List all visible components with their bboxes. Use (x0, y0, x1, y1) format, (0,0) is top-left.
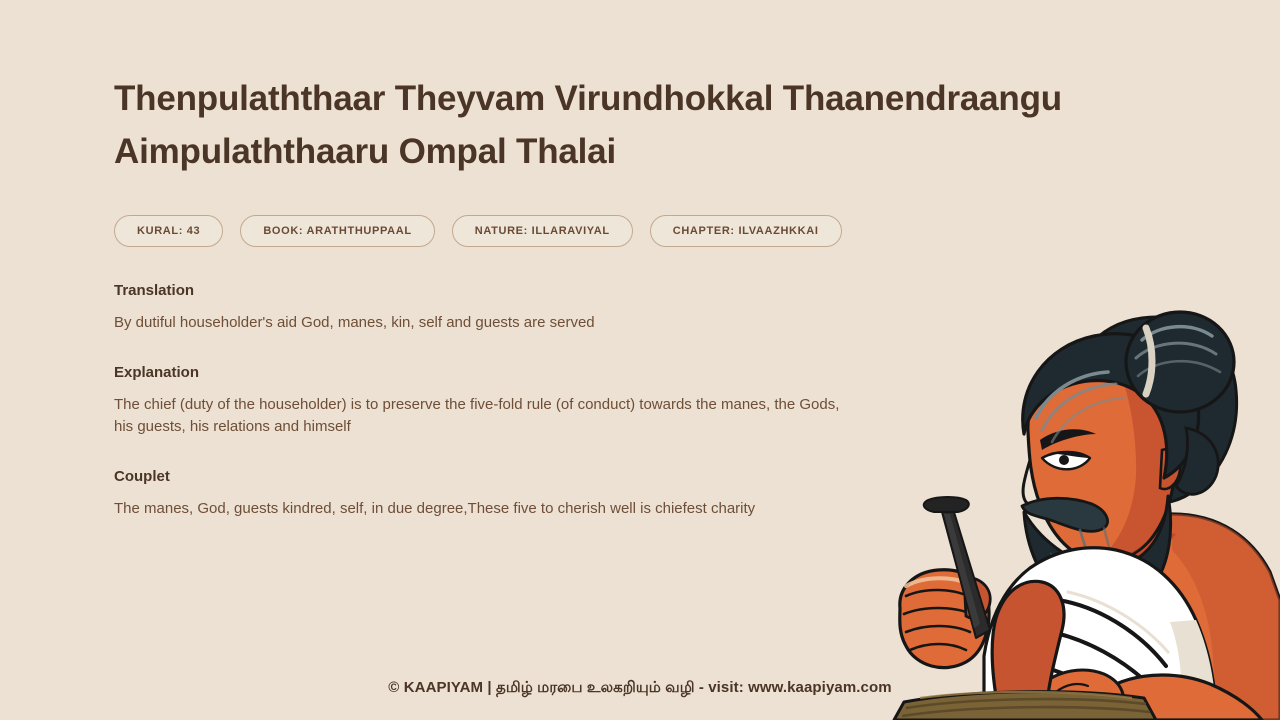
badge-kural: KURAL: 43 (114, 215, 223, 247)
section-couplet: Couplet The manes, God, guests kindred, … (114, 467, 1104, 520)
translation-heading: Translation (114, 281, 1104, 301)
section-explanation: Explanation The chief (duty of the house… (114, 363, 1104, 438)
metadata-badge-row: KURAL: 43 BOOK: ARATHTHUPPAAL NATURE: IL… (114, 215, 1104, 247)
footer-credit: © KAAPIYAM | தமிழ் மரபை உலகறியும் வழி - … (0, 679, 1280, 698)
section-translation: Translation By dutiful householder's aid… (114, 281, 1104, 334)
couplet-heading: Couplet (114, 467, 1104, 487)
translation-text: By dutiful householder's aid God, manes,… (114, 312, 854, 334)
badge-book: BOOK: ARATHTHUPPAAL (240, 215, 434, 247)
badge-nature: NATURE: ILLARAVIYAL (452, 215, 633, 247)
explanation-heading: Explanation (114, 363, 1104, 383)
badge-chapter: CHAPTER: ILVAAZHKKAI (650, 215, 842, 247)
page-title: Thenpulaththaar Theyvam Virundhokkal Tha… (114, 72, 1099, 178)
kural-card: Thenpulaththaar Theyvam Virundhokkal Tha… (0, 0, 1280, 720)
couplet-text: The manes, God, guests kindred, self, in… (114, 498, 854, 520)
kural-content: Thenpulaththaar Theyvam Virundhokkal Tha… (114, 72, 1104, 520)
explanation-text: The chief (duty of the householder) is t… (114, 394, 854, 438)
